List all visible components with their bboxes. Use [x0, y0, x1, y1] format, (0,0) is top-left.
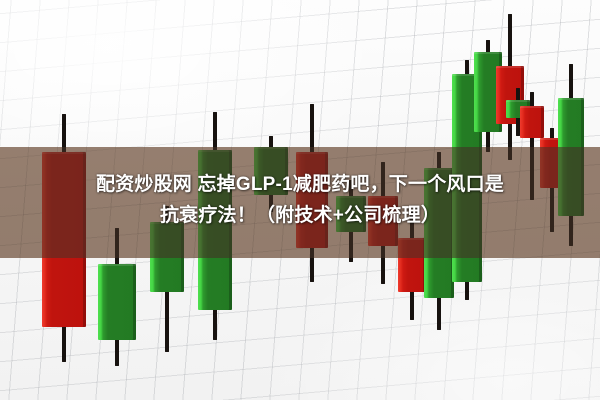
candlestick-banner-image: 配资炒股网 忘掉GLP-1减肥药吧，下一个风口是 抗衰疗法！（附技术+公司梳理）: [0, 0, 600, 400]
candlestick-body-up: [98, 264, 136, 340]
headline-line-1: 配资炒股网 忘掉GLP-1减肥药吧，下一个风口是: [0, 169, 600, 200]
banner-headline: 配资炒股网 忘掉GLP-1减肥药吧，下一个风口是 抗衰疗法！（附技术+公司梳理）: [0, 169, 600, 231]
headline-line-2: 抗衰疗法！（附技术+公司梳理）: [0, 200, 600, 231]
